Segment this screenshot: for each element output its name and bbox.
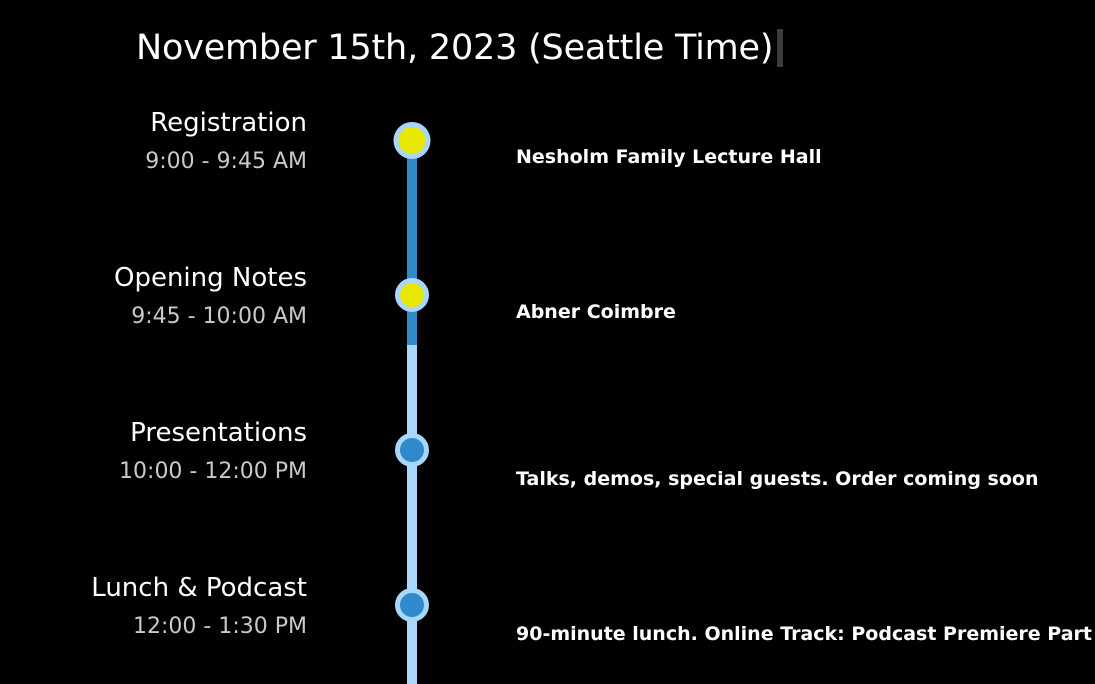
session-time: 12:00 - 1:30 PM [0,613,307,641]
timeline-row[interactable]: Lunch & Podcast 12:00 - 1:30 PM 90-minut… [0,573,1095,684]
timeline-row[interactable]: Opening Notes 9:45 - 10:00 AM Abner Coim… [0,263,1095,418]
page-header: November 15th, 2023 (Seattle Time) [136,22,783,74]
session-description: Talks, demos, special guests. Order comi… [516,468,1095,492]
timeline-node-marker[interactable] [395,278,429,312]
timeline-row-label: Opening Notes 9:45 - 10:00 AM [0,263,330,330]
timeline-row-detail: Nesholm Family Lecture Hall [516,108,1095,170]
page-title: November 15th, 2023 (Seattle Time) [136,31,773,66]
session-time: 9:00 - 9:45 AM [0,148,307,176]
session-title: Lunch & Podcast [0,573,307,605]
text-cursor-caret [777,29,783,67]
timeline-row-detail: 90-minute lunch. Online Track: Podcast P… [516,573,1095,647]
timeline-node-marker[interactable] [394,122,431,159]
timeline-row[interactable]: Presentations 10:00 - 12:00 PM Talks, de… [0,418,1095,573]
timeline-node-marker[interactable] [395,588,429,622]
timeline-node-marker[interactable] [395,433,429,467]
session-title: Presentations [0,418,307,450]
session-description: Abner Coimbre [516,301,1095,325]
timeline-row-label: Registration 9:00 - 9:45 AM [0,108,330,175]
timeline-row-detail: Talks, demos, special guests. Order comi… [516,418,1095,492]
schedule-page: November 15th, 2023 (Seattle Time) Regis… [0,0,1095,684]
rail-segment-below [407,345,417,418]
session-description: Nesholm Family Lecture Hall [516,146,1095,170]
timeline-row[interactable]: Registration 9:00 - 9:45 AM Nesholm Fami… [0,108,1095,263]
session-time: 10:00 - 12:00 PM [0,458,307,486]
session-description: 90-minute lunch. Online Track: Podcast P… [516,623,1095,647]
schedule-timeline: Registration 9:00 - 9:45 AM Nesholm Fami… [0,108,1095,684]
timeline-row-label: Presentations 10:00 - 12:00 PM [0,418,330,485]
rail-segment-below [407,450,417,573]
timeline-row-detail: Abner Coimbre [516,263,1095,325]
timeline-row-label: Lunch & Podcast 12:00 - 1:30 PM [0,573,330,640]
session-title: Opening Notes [0,263,307,295]
session-title: Registration [0,108,307,140]
session-time: 9:45 - 10:00 AM [0,303,307,331]
